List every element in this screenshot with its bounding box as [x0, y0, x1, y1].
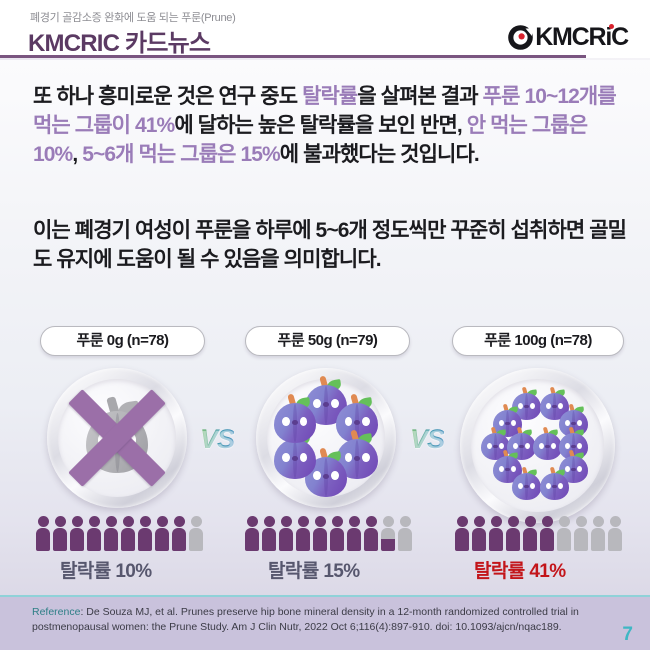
vs-separator-1: VS	[200, 424, 234, 455]
body-paragraph-1: 또 하나 흥미로운 것은 연구 중도 탈락률을 살펴본 결과 푸룬 10~12개…	[33, 82, 633, 169]
plain-text: ,	[72, 143, 82, 166]
person-icon-full	[364, 516, 378, 551]
person-icon-full	[262, 516, 276, 551]
people-row-0g	[36, 516, 203, 551]
person-icon-full	[455, 516, 469, 551]
group-label-prune-100g: 푸룬 100g (n=78)	[452, 326, 624, 356]
card-news-slide: 폐경기 골감소증 완화에 도움 되는 푸룬(Prune) KMCRIC 카드뉴스…	[0, 0, 650, 650]
person-icon-full	[155, 516, 169, 551]
prune-icon	[533, 429, 562, 460]
person-icon-full	[138, 516, 152, 551]
reference-label: Reference	[32, 606, 80, 618]
person-icon-full	[245, 516, 259, 551]
group-label-prune-50g: 푸룬 50g (n=79)	[245, 326, 410, 356]
reference-citation: : De Souza MJ, et al. Prunes preserve hi…	[32, 606, 579, 633]
dish-inner	[267, 379, 385, 497]
person-icon-full	[313, 516, 327, 551]
highlighted-text: 탈락률	[302, 85, 357, 108]
person-icon-full	[53, 516, 67, 551]
plain-text: 을 살펴본 결과	[357, 85, 482, 108]
prune-dish-100g	[460, 368, 615, 523]
person-icon-full	[121, 516, 135, 551]
person-icon-full	[489, 516, 503, 551]
cross-out-x-icon	[63, 384, 171, 492]
group-label-prune-0g: 푸룬 0g (n=78)	[40, 326, 205, 356]
person-icon-empty	[591, 516, 605, 551]
people-row-50g	[245, 516, 412, 551]
person-icon-empty	[398, 516, 412, 551]
person-icon-full	[330, 516, 344, 551]
person-icon-full	[523, 516, 537, 551]
person-icon-full	[172, 516, 186, 551]
person-icon-empty	[574, 516, 588, 551]
plain-text: 또 하나 흥미로운 것은 연구 중도	[33, 85, 302, 108]
highlighted-text: 5~6개 먹는 그룹은 15%	[82, 143, 280, 166]
person-icon-full	[104, 516, 118, 551]
dish-inner	[58, 379, 176, 497]
person-icon-empty	[608, 516, 622, 551]
prune-icon	[540, 469, 569, 500]
person-icon-full	[296, 516, 310, 551]
dropout-rate-50g: 탈락률 15%	[268, 556, 360, 583]
person-icon-full	[70, 516, 84, 551]
person-icon-empty	[557, 516, 571, 551]
person-icon-full	[540, 516, 554, 551]
kmcric-logo[interactable]: KMCRiC	[507, 22, 628, 52]
person-icon-full	[506, 516, 520, 551]
dropout-rate-0g: 탈락률 10%	[60, 556, 152, 583]
vs-separator-2: VS	[410, 424, 444, 455]
person-icon-half	[381, 516, 395, 551]
plain-text: 에 달하는 높은 탈락률을 보인 반면,	[174, 114, 466, 137]
people-row-100g	[455, 516, 622, 551]
kmcric-logo-mark-icon	[507, 24, 534, 51]
prune-dish-0g	[47, 368, 187, 508]
person-icon-full	[279, 516, 293, 551]
footer: Reference: De Souza MJ, et al. Prunes pr…	[0, 595, 650, 650]
dropout-rate-100g: 탈락률 41%	[474, 556, 566, 583]
page-number: 7	[622, 624, 633, 646]
person-icon-full	[472, 516, 486, 551]
person-icon-full	[36, 516, 50, 551]
prune-dish-50g	[256, 368, 396, 508]
prune-icon	[512, 469, 541, 500]
body-paragraph-2: 이는 폐경기 여성이 푸룬을 하루에 5~6개 정도씩만 꾸준히 섭취하면 골밀…	[33, 216, 633, 274]
person-icon-full	[347, 516, 361, 551]
logo-accent-dot-icon	[609, 24, 614, 29]
kmcric-logo-text: KMCRiC	[535, 24, 628, 51]
header: 폐경기 골감소증 완화에 도움 되는 푸룬(Prune) KMCRIC 카드뉴스…	[0, 0, 650, 60]
person-icon-full	[87, 516, 101, 551]
dish-inner	[471, 379, 604, 512]
plain-text: 에 불과했다는 것입니다.	[280, 143, 479, 166]
reference-text: Reference: De Souza MJ, et al. Prunes pr…	[32, 605, 592, 634]
prune-icon	[274, 397, 316, 443]
header-divider-secondary	[0, 58, 650, 60]
page-title: KMCRIC 카드뉴스	[28, 23, 210, 58]
person-icon-empty	[189, 516, 203, 551]
